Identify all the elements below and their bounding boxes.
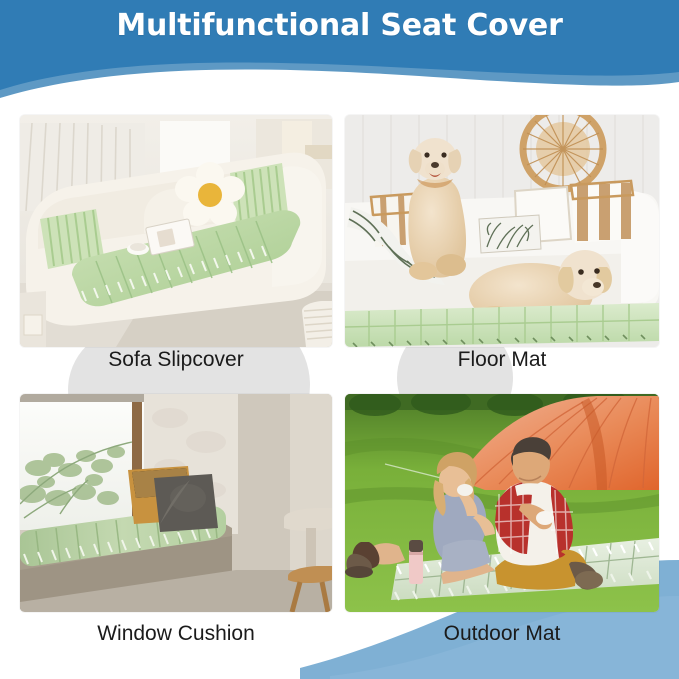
- caption-floor-mat: Floor Mat: [345, 348, 659, 372]
- caption-outdoor-mat: Outdoor Mat: [345, 622, 659, 646]
- caption-window-cushion: Window Cushion: [20, 622, 332, 646]
- product-infographic: Multifunctional Seat Cover: [0, 0, 679, 679]
- caption-sofa-slipcover: Sofa Slipcover: [20, 348, 332, 372]
- captions: Sofa Slipcover Floor Mat Window Cushion …: [0, 0, 679, 679]
